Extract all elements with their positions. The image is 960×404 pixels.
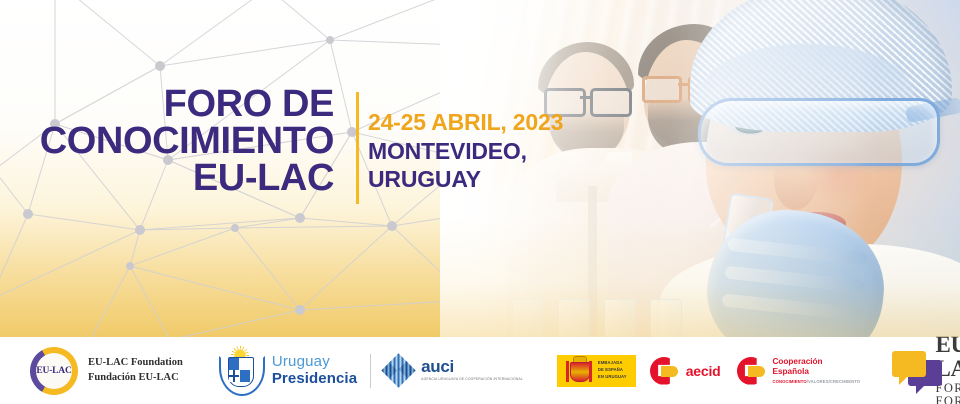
aecid-name: aecid [686, 363, 721, 379]
embajada-line-1: EMBAJADA [598, 360, 627, 367]
embajada-text: EMBAJADA DE ESPAÑA EN URUGUAY [598, 360, 627, 381]
logo-uruguay-presidencia[interactable]: Uruguay Presidencia auci AGENCIA URUGUAY… [217, 348, 523, 394]
logo-aecid[interactable]: aecid [650, 357, 721, 385]
auci-text: auci AGENCIA URUGUAYA DE COOPERACIÓN INT… [421, 358, 523, 382]
uruguay-line-2: Presidencia [272, 371, 357, 387]
speech-bubbles-icon [892, 351, 926, 391]
embajada-line-2: DE ESPAÑA [598, 367, 627, 374]
spain-coat-of-arms-icon [566, 357, 592, 385]
uruguay-coat-of-arms-icon [217, 348, 263, 394]
logo-cooperacion-espanola[interactable]: Cooperación Española CONOCIMIENTO/VALORE… [737, 357, 861, 385]
embajada-line-3: EN URUGUAY [598, 374, 627, 381]
auci-name: auci [421, 358, 523, 375]
logo-separator [370, 354, 371, 388]
event-date: 24-25 ABRIL, 2023 [368, 108, 563, 137]
eulac-foundation-line-1: EU-LAC Foundation [88, 356, 183, 371]
eulac-ring-icon: EU-LAC [30, 347, 78, 395]
auci-diamond-icon [384, 356, 414, 386]
banner-hero: FORO DE CONOCIMIENTO EU-LAC 24-25 ABRIL,… [0, 0, 960, 337]
eulac-foundation-line-2: Fundación EU-LAC [88, 371, 183, 386]
event-banner: FORO DE CONOCIMIENTO EU-LAC 24-25 ABRIL,… [0, 0, 960, 404]
cooperacion-line-1: Cooperación [773, 357, 861, 367]
logo-auci[interactable]: auci AGENCIA URUGUAYA DE COOPERACIÓN INT… [384, 356, 523, 386]
uruguay-line-1: Uruguay [272, 354, 357, 370]
eulac-foundation-text: EU-LAC Foundation Fundación EU-LAC [88, 356, 183, 385]
title-line-2: CONOCIMIENTO [0, 123, 352, 160]
title-line-3: EU-LAC [0, 160, 352, 197]
aecid-c-icon [650, 357, 678, 385]
banner-title: FORO DE CONOCIMIENTO EU-LAC [0, 86, 352, 198]
title-line-1: FORO DE [0, 86, 352, 123]
event-country: URUGUAY [368, 165, 563, 194]
sponsor-logo-bar: EU-LAC EU-LAC Foundation Fundación EU-LA… [0, 337, 960, 404]
cooperacion-tagline-red: CONOCIMIENTO [773, 379, 807, 384]
photo-bottom-fade [440, 217, 960, 337]
vertical-divider [356, 92, 359, 204]
event-details: 24-25 ABRIL, 2023 MONTEVIDEO, URUGUAY [368, 108, 563, 194]
cooperacion-tagline-gray: /VALORES/CRECIMIENTO [807, 379, 861, 384]
logo-eulac-foros[interactable]: EU-LAC FOROS | FORA [892, 333, 960, 404]
uruguay-text: Uruguay Presidencia [272, 354, 357, 386]
eulac-ring-label: EU-LAC [36, 366, 71, 376]
auci-tagline: AGENCIA URUGUAYA DE COOPERACIÓN INTERNAC… [421, 377, 523, 382]
logo-spain-group: EMBAJADA DE ESPAÑA EN URUGUAY aecid Coop… [557, 355, 860, 387]
logo-embajada-espana[interactable]: EMBAJADA DE ESPAÑA EN URUGUAY [557, 355, 636, 387]
cooperacion-tagline: CONOCIMIENTO/VALORES/CRECIMIENTO [773, 379, 861, 384]
cooperacion-line-2: Española [773, 367, 861, 377]
foros-sub-right: FORA [936, 394, 960, 404]
cooperacion-text: Cooperación Española CONOCIMIENTO/VALORE… [773, 357, 861, 384]
event-city: MONTEVIDEO, [368, 137, 563, 166]
cooperacion-c-icon [737, 357, 765, 385]
logo-eulac-foundation[interactable]: EU-LAC EU-LAC Foundation Fundación EU-LA… [30, 347, 183, 395]
